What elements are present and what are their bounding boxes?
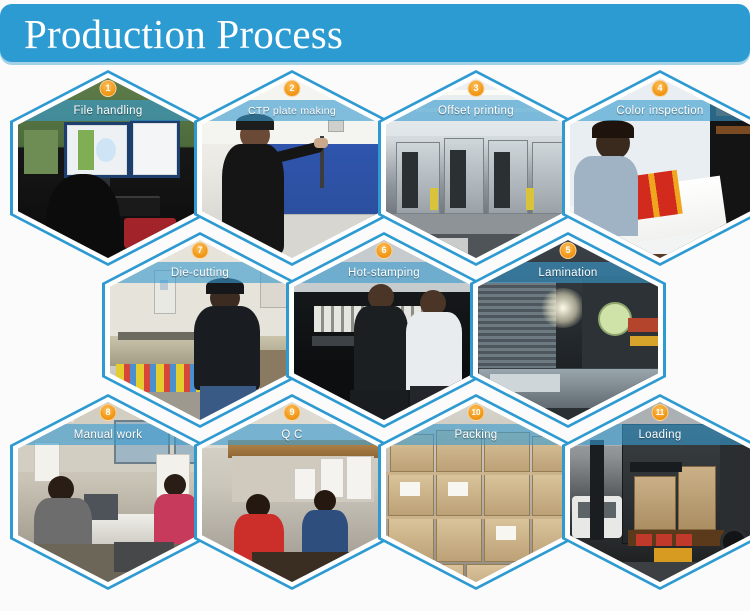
step-number-badge: 7 [192,242,209,259]
step-label: Offset printing [438,105,514,117]
production-process-infographic: Production Process [0,0,750,611]
step-number-badge: 5 [560,242,577,259]
step-number-badge: 11 [652,404,669,421]
step-number-badge: 3 [468,80,485,97]
header-banner: Production Process [0,4,750,62]
process-step-loading[interactable]: Loading 11 [562,394,750,590]
step-label: Manual work [74,429,143,441]
page-title: Production Process [24,6,343,62]
step-label: Loading [638,429,681,441]
step-label: Die-cutting [171,267,229,279]
process-step-qc[interactable]: Q C 9 [194,394,390,590]
step-number-badge: 2 [284,80,301,97]
step-number-badge: 1 [100,80,117,97]
step-number-badge: 4 [652,80,669,97]
process-hex-grid: File handling 1 [0,62,750,611]
step-number-badge: 8 [100,404,117,421]
step-number-badge: 6 [376,242,393,259]
process-step-manual-work[interactable]: Manual work 8 [10,394,206,590]
step-label: Hot-stamping [348,267,420,279]
step-number-badge: 9 [284,404,301,421]
step-label: Color inspection [616,105,703,117]
process-step-packing[interactable]: Packing 10 [378,394,574,590]
step-label: Packing [454,429,497,441]
step-label: File handling [73,105,142,117]
step-label: Lamination [538,267,597,279]
step-number-badge: 10 [468,404,485,421]
step-label: CTP plate making [248,105,336,117]
step-label: Q C [281,429,302,441]
